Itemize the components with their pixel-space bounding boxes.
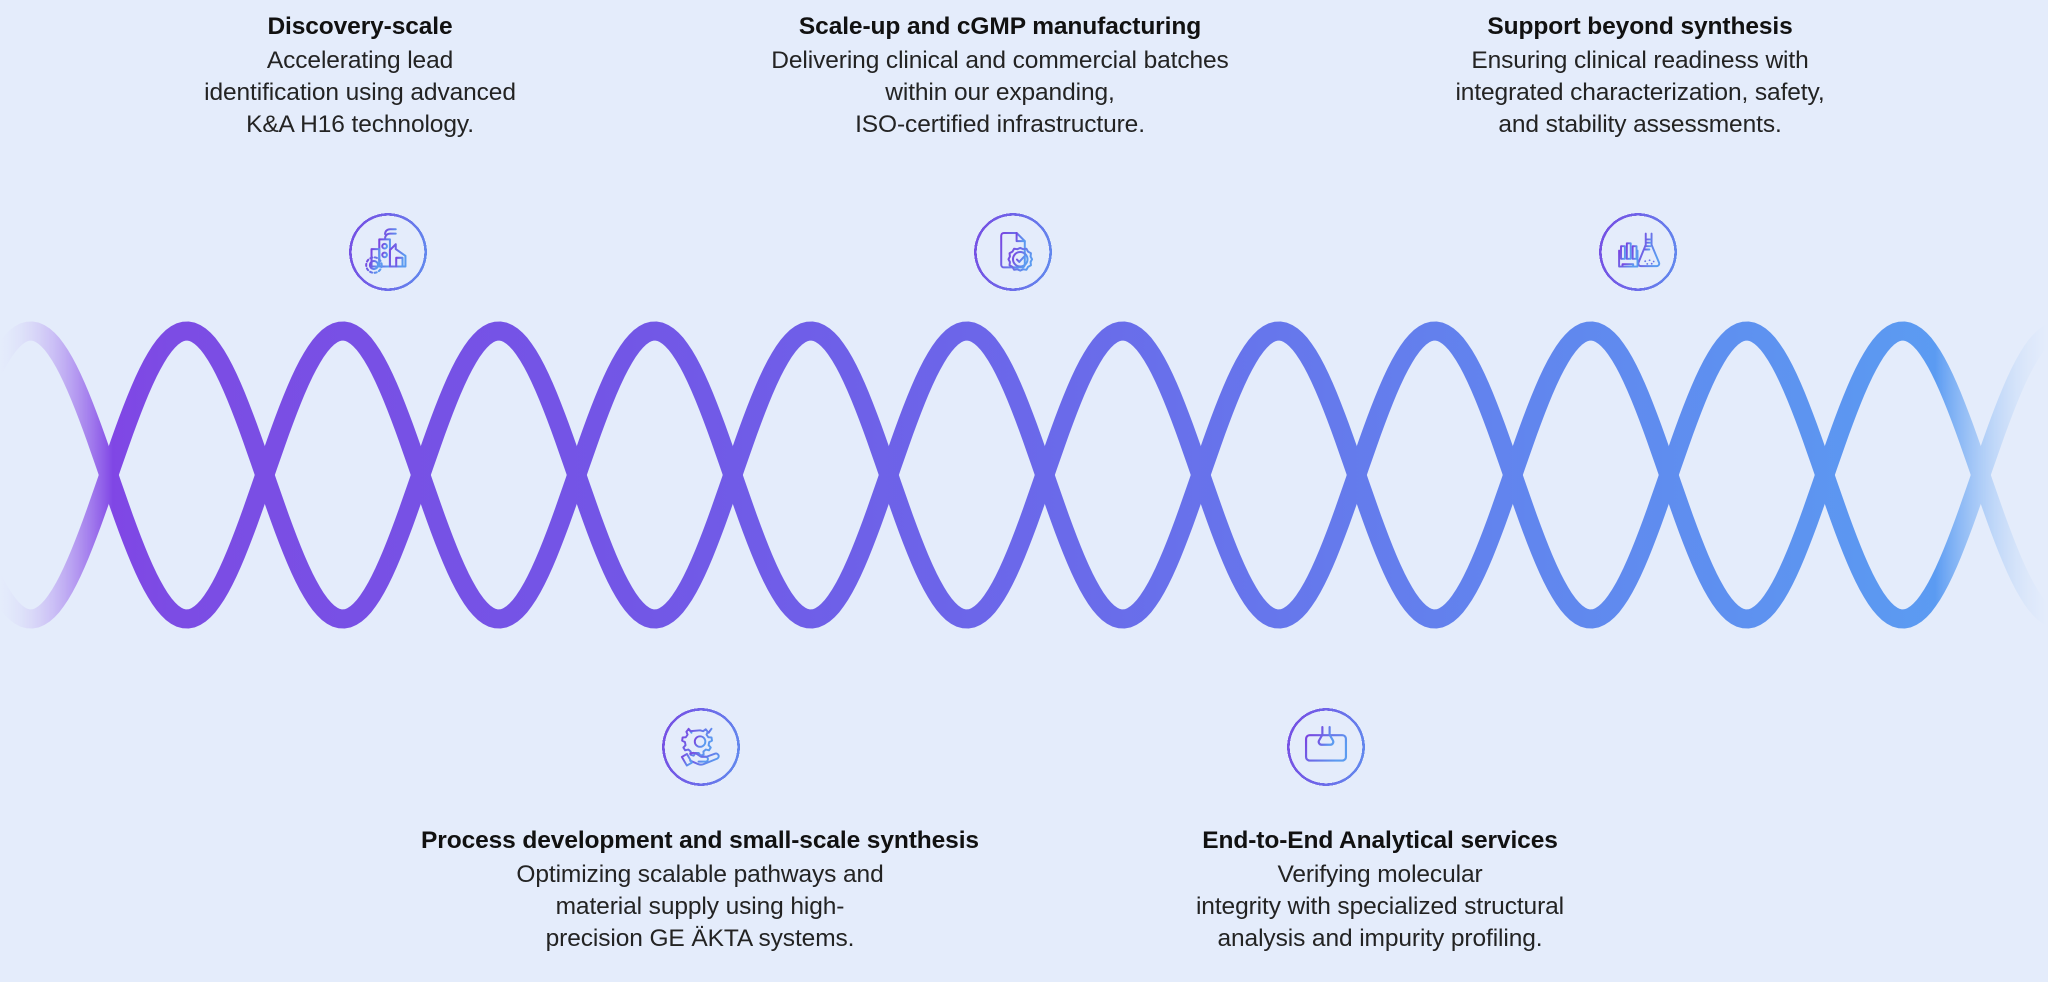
block-scaleup: Scale-up and cGMP manufacturing Deliveri… — [700, 11, 1300, 140]
block-support-line-3: and stability assessments. — [1395, 109, 1885, 141]
block-support-line-1: Ensuring clinical readiness with — [1395, 45, 1885, 77]
helix-strands — [0, 331, 2048, 619]
icon-circle-process — [646, 692, 756, 802]
block-analytical: End-to-End Analytical services Verifying… — [1090, 825, 1670, 954]
icon-circle-scaleup — [958, 197, 1068, 307]
block-support: Support beyond synthesis Ensuring clinic… — [1395, 11, 1885, 140]
block-process-line-2: material supply using high- — [390, 891, 1010, 923]
block-analytical-line-2: integrity with specialized structural — [1090, 891, 1670, 923]
block-analytical-title: End-to-End Analytical services — [1090, 825, 1670, 857]
infographic-canvas: Discovery-scale Accelerating lead identi… — [0, 0, 2048, 982]
block-scaleup-title: Scale-up and cGMP manufacturing — [700, 11, 1300, 43]
block-analytical-line-1: Verifying molecular — [1090, 859, 1670, 891]
block-discovery-line-2: identification using advanced — [135, 77, 585, 109]
block-support-line-2: integrated characterization, safety, — [1395, 77, 1885, 109]
block-discovery-title: Discovery-scale — [135, 11, 585, 43]
block-scaleup-line-3: ISO-certified infrastructure. — [700, 109, 1300, 141]
block-discovery-line-3: K&A H16 technology. — [135, 109, 585, 141]
factory-gear-icon — [333, 197, 443, 307]
dna-helix-graphic — [0, 300, 2048, 650]
icon-circle-analytical — [1271, 692, 1381, 802]
block-scaleup-line-1: Delivering clinical and commercial batch… — [700, 45, 1300, 77]
block-process-line-1: Optimizing scalable pathways and — [390, 859, 1010, 891]
block-process-line-3: precision GE ÄKTA systems. — [390, 923, 1010, 955]
block-scaleup-line-2: within our expanding, — [700, 77, 1300, 109]
test-tubes-flask-icon — [1583, 197, 1693, 307]
block-process-title: Process development and small-scale synt… — [390, 825, 1010, 857]
block-discovery: Discovery-scale Accelerating lead identi… — [135, 11, 585, 140]
monitor-flask-icon — [1271, 692, 1381, 802]
certified-document-icon — [958, 197, 1068, 307]
hand-holding-gear-icon — [646, 692, 756, 802]
block-process: Process development and small-scale synt… — [390, 825, 1010, 954]
icon-circle-support — [1583, 197, 1693, 307]
block-discovery-line-1: Accelerating lead — [135, 45, 585, 77]
icon-circle-discovery — [333, 197, 443, 307]
block-analytical-line-3: analysis and impurity profiling. — [1090, 923, 1670, 955]
block-support-title: Support beyond synthesis — [1395, 11, 1885, 43]
